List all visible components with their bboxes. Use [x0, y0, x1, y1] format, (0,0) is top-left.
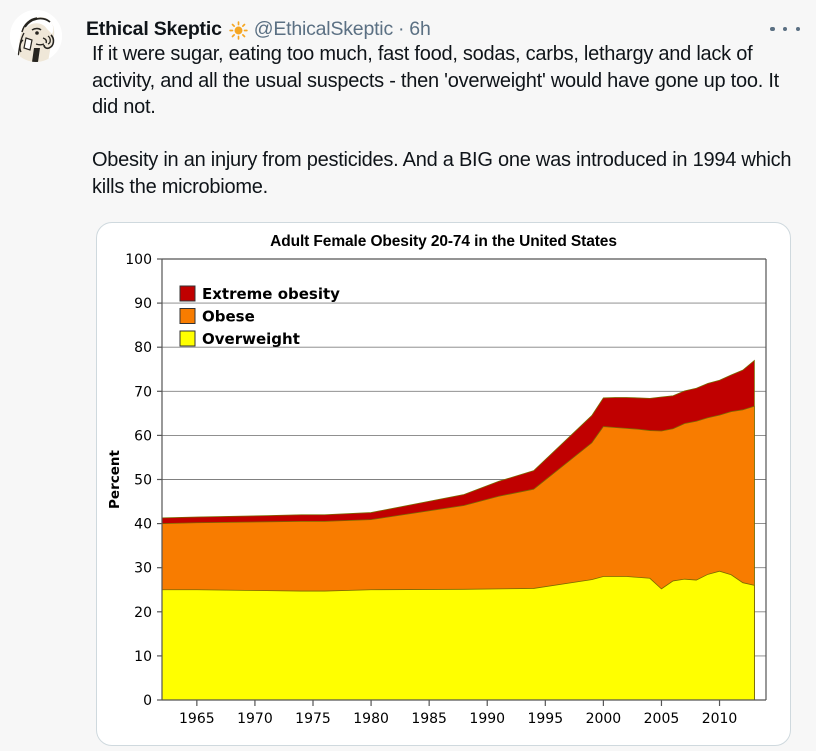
- more-dot: [783, 27, 788, 32]
- x-tick-label: 1980: [353, 711, 389, 727]
- tweet-paragraph-2: Obesity in an injury from pesticides. An…: [92, 147, 792, 200]
- area-series-group: [162, 360, 754, 700]
- area-series-overweight: [162, 571, 754, 700]
- y-axis-tick-labels: 0102030405060708090100: [125, 252, 152, 709]
- more-dot: [796, 27, 801, 32]
- y-tick-label: 40: [134, 517, 152, 533]
- x-tick-label: 2000: [586, 711, 622, 727]
- stacked-area-chart: 0102030405060708090100 19651970197519801…: [97, 223, 791, 746]
- tweet-paragraph-1: If it were sugar, eating too much, fast …: [92, 41, 792, 121]
- author-row: Ethical Skeptic @EthicalS: [86, 16, 431, 42]
- x-tick-label: 1990: [469, 711, 505, 727]
- more-dot: [770, 27, 775, 32]
- y-tick-label: 100: [125, 252, 152, 268]
- chart-attachment-card[interactable]: Adult Female Obesity 20-74 in the United…: [96, 222, 791, 746]
- x-axis-tick-labels: 1965197019751980198519901995200020052010: [179, 711, 737, 727]
- chart-legend: Extreme obesityObeseOverweight: [180, 285, 340, 348]
- avatar-illustration: [10, 10, 62, 62]
- x-tick-label: 1985: [411, 711, 447, 727]
- y-tick-label: 0: [143, 693, 152, 709]
- chart-plot-area: 0102030405060708090100 19651970197519801…: [97, 223, 791, 746]
- meta-separator: ·: [398, 18, 404, 41]
- x-tick-label: 1975: [295, 711, 331, 727]
- x-axis-ticks: [197, 700, 720, 706]
- y-tick-label: 30: [134, 561, 152, 577]
- sun-emoji: [229, 21, 248, 40]
- author-handle[interactable]: @EthicalSkeptic: [254, 18, 393, 41]
- x-tick-label: 2005: [644, 711, 680, 727]
- legend-swatch: [180, 309, 195, 324]
- legend-label: Extreme obesity: [202, 285, 340, 303]
- y-tick-label: 90: [134, 296, 152, 312]
- x-tick-label: 1965: [179, 711, 215, 727]
- y-tick-label: 60: [134, 428, 152, 444]
- legend-swatch: [180, 286, 195, 301]
- display-name[interactable]: Ethical Skeptic: [86, 18, 222, 41]
- more-options-button[interactable]: [770, 18, 800, 40]
- x-tick-label: 1995: [527, 711, 563, 727]
- y-tick-label: 70: [134, 384, 152, 400]
- legend-label: Obese: [202, 308, 255, 326]
- y-tick-label: 10: [134, 649, 152, 665]
- x-tick-label: 2010: [702, 711, 738, 727]
- y-tick-label: 80: [134, 340, 152, 356]
- x-tick-label: 1970: [237, 711, 273, 727]
- paragraph-spacer: [92, 121, 792, 148]
- legend-swatch: [180, 331, 195, 346]
- tweet-timestamp[interactable]: 6h: [409, 18, 430, 41]
- y-axis-title-text: Percent: [107, 449, 123, 508]
- tweet-body: If it were sugar, eating too much, fast …: [92, 41, 792, 200]
- y-axis-title: Percent: [107, 449, 123, 508]
- legend-label: Overweight: [202, 330, 300, 348]
- y-tick-label: 50: [134, 473, 152, 489]
- y-tick-label: 20: [134, 605, 152, 621]
- tweet-card: Ethical Skeptic @EthicalS: [0, 0, 816, 751]
- avatar[interactable]: [10, 10, 62, 62]
